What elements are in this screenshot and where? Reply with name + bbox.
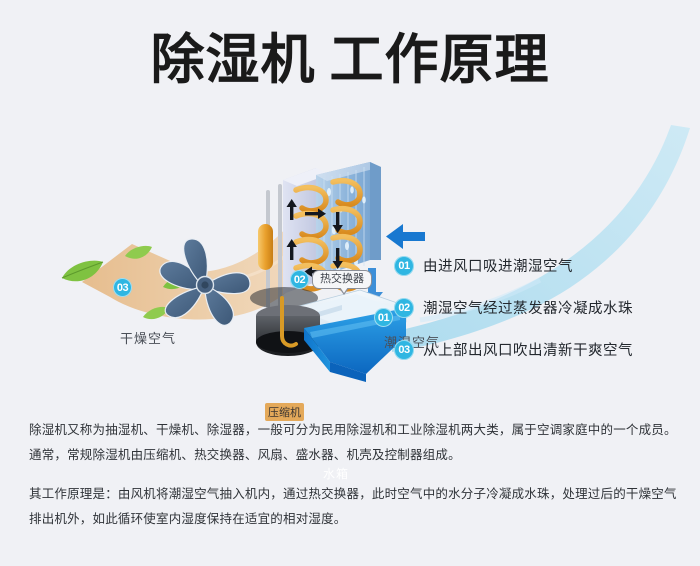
legend-label-01: 由进风口吸进潮湿空气 [423,255,573,276]
legend-label-03: 从上部出风口吹出清新干爽空气 [423,339,633,360]
callout-heat-exchanger: 热交换器 [312,270,372,289]
page-root: 除湿机工作原理 [0,0,700,566]
legend-list: 01 由进风口吸进潮湿空气 02 潮湿空气经过蒸发器冷凝成水珠 03 从上部出风… [394,255,684,381]
label-dry-air: 干燥空气 [120,328,176,347]
legend-label-02: 潮湿空气经过蒸发器冷凝成水珠 [423,297,633,318]
legend-badge-02: 02 [394,298,414,318]
legend-badge-03: 03 [394,340,414,360]
callout-tail-inner [340,287,348,293]
page-title-part1: 除湿机 [151,30,316,90]
diagram-badge-01: 01 [374,308,393,327]
page-title: 除湿机工作原理 [0,32,700,89]
legend-item-03: 03 从上部出风口吹出清新干爽空气 [394,339,684,360]
accumulator-cylinder [258,224,273,270]
air-inlet-arrow-icon [386,224,425,249]
diagram-badge-02: 02 [290,270,309,289]
legend-item-01: 01 由进风口吸进潮湿空气 [394,255,684,276]
description-block: 除湿机又称为抽湿机、干燥机、除湿器，一般可分为民用除湿机和工业除湿机两大类，属于… [29,418,677,532]
legend-item-02: 02 潮湿空气经过蒸发器冷凝成水珠 [394,297,684,318]
description-paragraph-1: 除湿机又称为抽湿机、干燥机、除湿器，一般可分为民用除湿机和工业除湿机两大类，属于… [29,418,677,468]
description-paragraph-2: 其工作原理是：由风机将潮湿空气抽入机内，通过热交换器，此时空气中的水分子冷凝成水… [29,482,677,532]
callout-heat-exchanger-label: 热交换器 [320,273,364,285]
legend-badge-01: 01 [394,256,414,276]
diagram-badge-03: 03 [113,278,132,297]
page-title-part2: 工作原理 [330,30,550,90]
